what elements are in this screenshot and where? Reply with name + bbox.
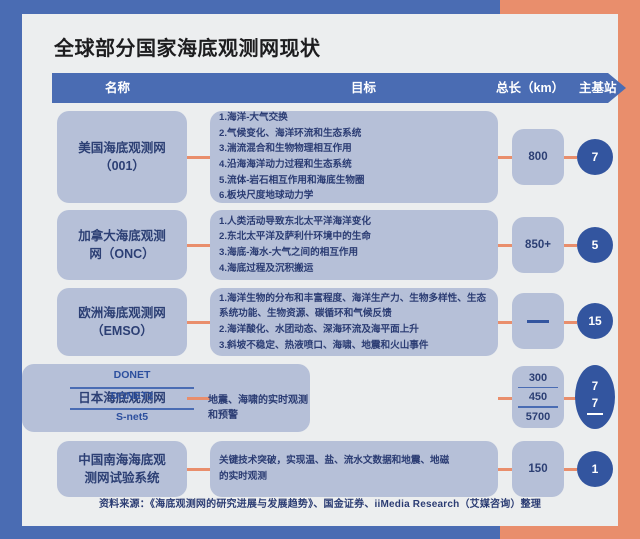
source-note: 资料来源：《海底观测网的研究进展与发展趋势》、国金证券、iiMedia Rese… [22,495,618,510]
header-col-goal: 目标 [351,73,376,103]
station-item: 7 [592,379,598,396]
page-title: 全球部分国家海底观测网现状 [54,32,321,61]
goal-item: 4.海底过程及沉积搬运 [219,261,489,277]
subnet-donet2: DONET2 [70,390,194,402]
goal-item: 1.人类活动导致东北太平洋海洋变化 [219,214,489,230]
goal-item: 4.沿海海洋动力过程和生态系统 [219,157,489,173]
goal-item: 的实时观测 [219,469,489,485]
row-length-japan: 300 450 5700 [512,366,564,428]
station-item: 7 [592,396,598,413]
goal-item: 6.板块尺度地球动力学 [219,188,489,204]
goal-item: 2.气候变化、海洋环流和生态系统 [219,126,489,142]
row-name-europe[interactable]: 欧洲海底观测网 （EMSO） [57,288,187,356]
row-length-europe [512,293,564,349]
table-row: 美国海底观测网 （001） 1.海洋-大气交换 2.气候变化、海洋环流和生态系统… [22,111,618,203]
connector-line [564,468,577,471]
goal-item: 1.海洋生物的分布和丰富程度、海洋生产力、生物多样性、生态系统功能、生物资源、碳… [219,291,489,322]
goal-item: 2.东北太平洋及萨利什环境中的生命 [219,229,489,245]
row-goals-europe: 1.海洋生物的分布和丰富程度、海洋生产力、生物多样性、生态系统功能、生物资源、碳… [210,288,498,356]
row-length-china: 150 [512,441,564,497]
goal-item: 3.海底-海水-大气之间的相互作用 [219,245,489,261]
divider [70,387,194,389]
length-item: 5700 [512,408,564,426]
row-name-line1: 加拿大海底观测 [78,229,166,243]
goal-item: 3.湍流混合和生物物理相互作用 [219,141,489,157]
row-name-usa[interactable]: 美国海底观测网 （001） [57,111,187,203]
table-row: 加拿大海底观测 网（ONC） 1.人类活动导致东北太平洋海洋变化 2.东北太平洋… [22,210,618,280]
row-name-line2: （001） [99,159,145,173]
connector-line [187,156,210,159]
header-col-length: 总长（km） [496,73,564,103]
header-col-station: 主基站 [579,73,617,103]
row-name-line2: 测网试验系统 [84,471,159,485]
row-stations-china: 1 [577,451,613,487]
goal-item: 关键技术突破，实现温、盐、流水文数据和地震、地磁 [219,453,489,469]
row-goals-usa: 1.海洋-大气交换 2.气候变化、海洋环流和生态系统 3.湍流混合和生物物理相互… [210,111,498,203]
connector-line [187,468,210,471]
length-item: 300 [512,369,564,387]
row-name-line2: （EMSO） [91,324,153,338]
row-name-line1: 美国海底观测网 [78,141,166,155]
row-goals-canada: 1.人类活动导致东北太平洋海洋变化 2.东北太平洋及萨利什环境中的生命 3.海底… [210,210,498,280]
subnet-snet5: S-net5 [70,411,194,423]
row-name-line1: 中国南海海底观 [78,453,166,467]
row-stations-europe: 15 [577,303,613,339]
connector-line [498,468,512,471]
divider [70,408,194,410]
row-length-canada: 850+ [512,217,564,273]
row-stations-canada: 5 [577,227,613,263]
row-stations-japan: 7 7 [575,365,615,429]
connector-line [564,244,577,247]
connector-line [564,156,577,159]
connector-line [498,397,512,400]
infographic-poster: 全球部分国家海底观测网现状 名称 目标 总长（km） 主基站 美国海底观测网 （… [0,0,640,539]
content-card: 全球部分国家海底观测网现状 名称 目标 总长（km） 主基站 美国海底观测网 （… [22,14,618,526]
length-item: 450 [512,388,564,406]
row-name-canada[interactable]: 加拿大海底观测 网（ONC） [57,210,187,280]
length-dash-icon [527,320,549,323]
header-col-name: 名称 [105,73,130,103]
connector-line [187,321,210,324]
row-name-line2: 网（ONC） [89,247,154,261]
row-name-china[interactable]: 中国南海海底观 测网试验系统 [57,441,187,497]
connector-line [498,156,512,159]
station-dash-icon [587,413,603,416]
table-row: 欧洲海底观测网 （EMSO） 1.海洋生物的分布和丰富程度、海洋生产力、生物多样… [22,288,618,356]
subnet-donet: DONET [70,369,194,381]
connector-line [187,244,210,247]
row-name-line1: 欧洲海底观测网 [78,306,166,320]
goal-item: 2.海洋酸化、水团动态、深海环流及海平面上升 [219,322,489,338]
connector-line [564,321,577,324]
connector-line [498,244,512,247]
row-goals-china: 关键技术突破，实现温、盐、流水文数据和地震、地磁 的实时观测 [210,441,498,497]
goal-item: 3.斜坡不稳定、热液喷口、海啸、地震和火山事件 [219,338,489,354]
goal-item: 地震、海啸的实时观测和预警 [208,391,308,421]
connector-line [498,321,512,324]
goal-item: 5.流体-岩石相互作用和海底生物圈 [219,173,489,189]
row-stations-usa: 7 [577,139,613,175]
row-length-usa: 800 [512,129,564,185]
table-header-bar: 名称 目标 总长（km） 主基站 [52,73,626,103]
table-row: 日本海底观测网 DONET DONET2 S-net5 地震、海啸的实时观测和预… [22,364,618,432]
goal-item: 1.海洋-大气交换 [219,110,489,126]
table-row: 中国南海海底观 测网试验系统 关键技术突破，实现温、盐、流水文数据和地震、地磁 … [22,441,618,497]
